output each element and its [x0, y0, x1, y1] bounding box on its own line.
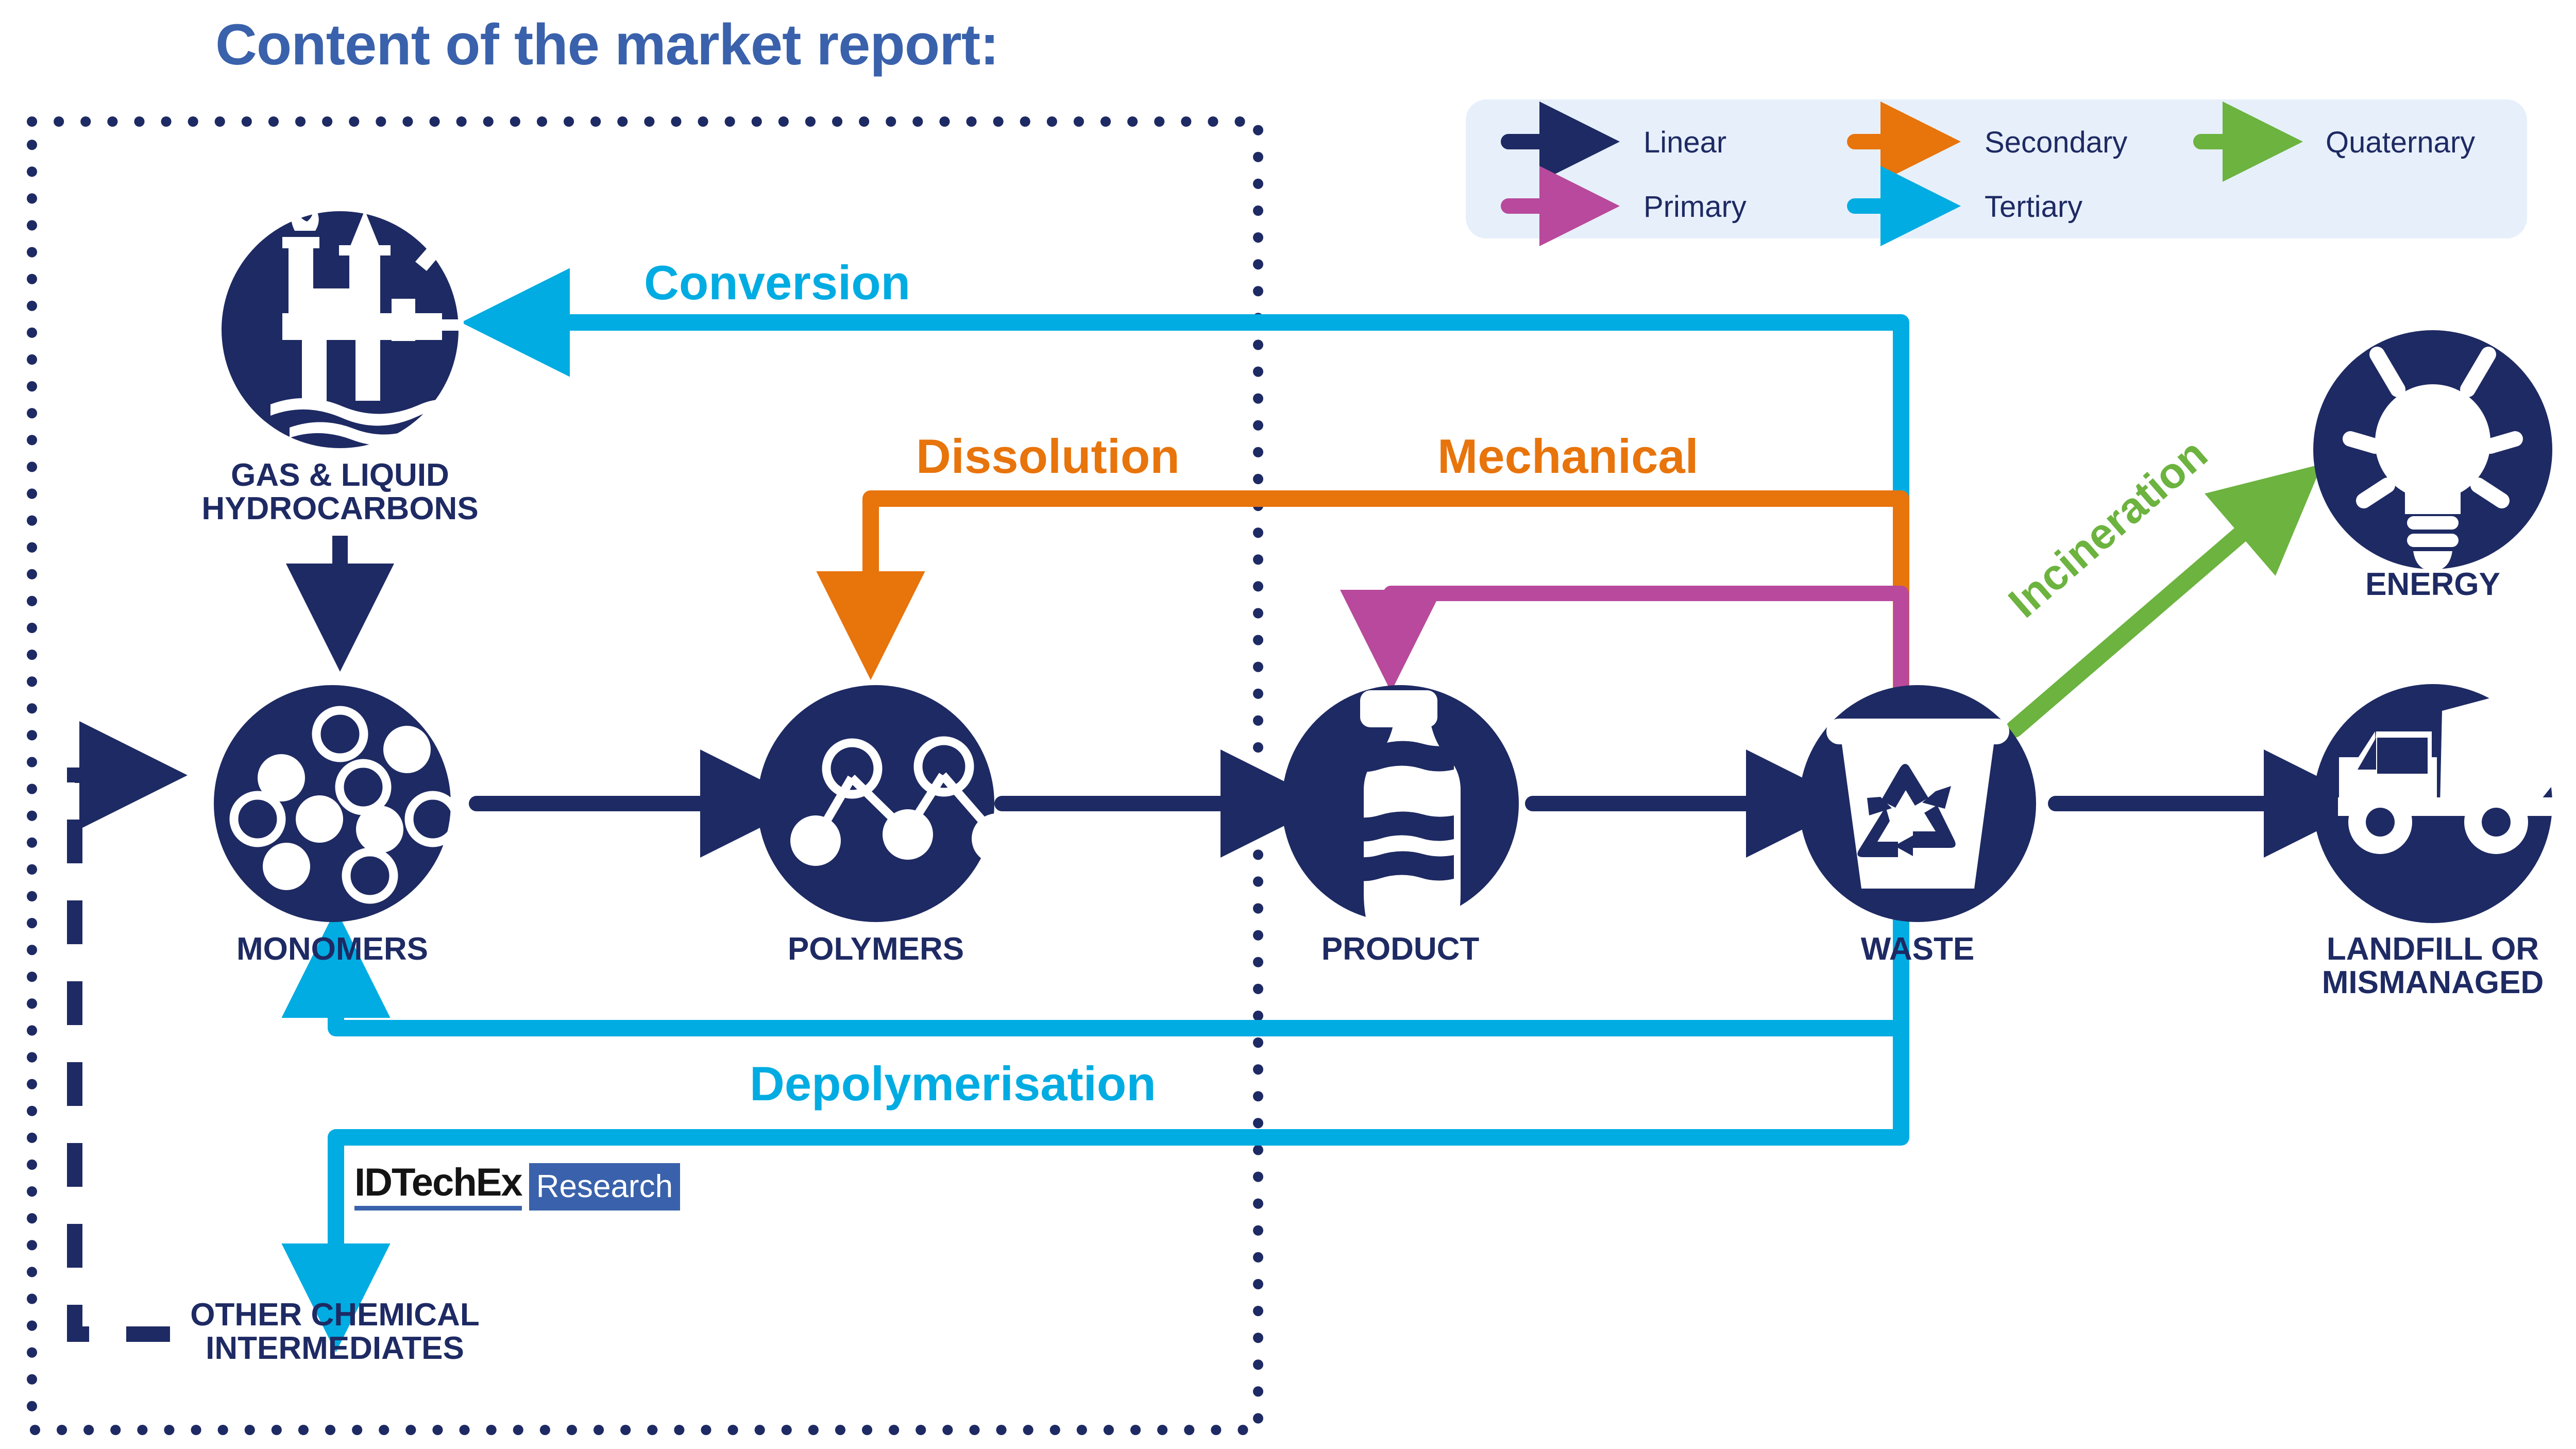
legend-arrow-layer	[0, 0, 2576, 1449]
legend-label-secondary: Secondary	[1985, 125, 2127, 160]
legend-label-primary: Primary	[1643, 190, 1747, 224]
legend-item-quaternary[interactable]: Quaternary	[2314, 125, 2475, 160]
idtechex-logo: IDTechEx Research	[354, 1163, 680, 1211]
idtechex-wordmark: IDTechEx	[354, 1163, 522, 1211]
legend-item-secondary[interactable]: Secondary	[1973, 125, 2127, 160]
diagram-canvas: Content of the market report:	[0, 0, 2576, 1449]
legend-label-linear: Linear	[1643, 125, 1726, 160]
legend-item-tertiary[interactable]: Tertiary	[1973, 190, 2082, 224]
legend-item-linear[interactable]: Linear	[1632, 125, 1726, 160]
legend-item-primary[interactable]: Primary	[1632, 190, 1747, 224]
idtechex-research-badge: Research	[529, 1163, 680, 1211]
legend-label-tertiary: Tertiary	[1985, 190, 2082, 224]
legend-label-quaternary: Quaternary	[2326, 125, 2475, 160]
